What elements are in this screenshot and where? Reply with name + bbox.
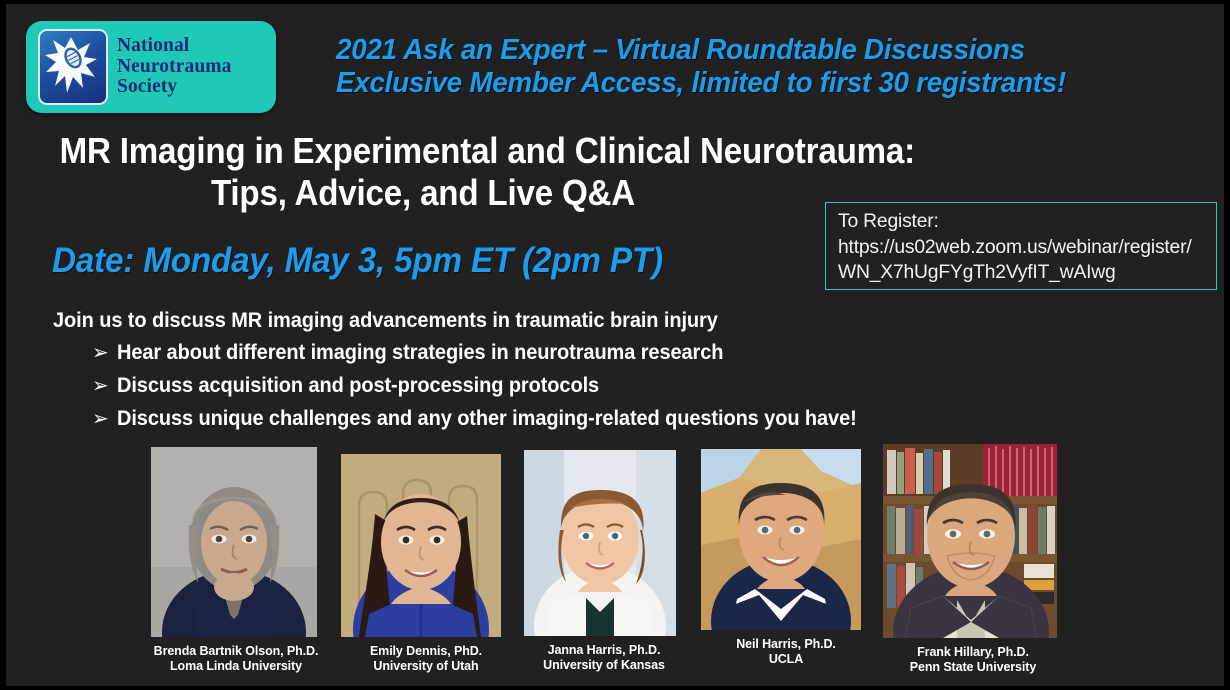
portrait-brenda-bartnik-olson	[151, 447, 317, 637]
flyer-canvas: National Neurotrauma Society 2021 Ask an…	[6, 4, 1224, 686]
portrait-frank-hillary	[883, 444, 1057, 638]
registration-box[interactable]: To Register: https://us02web.zoom.us/web…	[825, 202, 1217, 290]
speaker-card: Emily Dennis, PhD. University of Utah	[341, 454, 511, 674]
logo-line-2: Neurotrauma	[117, 57, 231, 78]
speaker-name: Neil Harris, Ph.D.	[701, 637, 871, 652]
logo-line-1: National	[117, 36, 231, 57]
bullet-item: ➢ Discuss unique challenges and any othe…	[92, 405, 1063, 432]
page-title: MR Imaging in Experimental and Clinical …	[28, 130, 818, 214]
arrow-bullet-icon: ➢	[92, 405, 117, 431]
arrow-bullet-icon: ➢	[92, 339, 117, 365]
speaker-affiliation: University of Utah	[341, 659, 511, 674]
header-line-1: 2021 Ask an Expert – Virtual Roundtable …	[336, 34, 1162, 67]
bullet-text: Hear about different imaging strategies …	[117, 339, 723, 366]
bullet-item: ➢ Hear about different imaging strategie…	[92, 339, 1063, 366]
flyer-slide: National Neurotrauma Society 2021 Ask an…	[0, 0, 1230, 690]
speaker-card: Janna Harris, Ph.D. University of Kansas	[524, 450, 684, 673]
bullet-item: ➢ Discuss acquisition and post-processin…	[92, 372, 1063, 399]
header-line-2: Exclusive Member Access, limited to firs…	[336, 67, 1162, 100]
portrait-neil-harris	[701, 449, 861, 630]
intro-line: Join us to discuss MR imaging advancemen…	[53, 307, 992, 333]
speaker-card: Brenda Bartnik Olson, Ph.D. Loma Linda U…	[151, 447, 321, 674]
speaker-affiliation: Penn State University	[883, 660, 1063, 675]
speaker-affiliation: University of Kansas	[524, 658, 684, 673]
speaker-card: Neil Harris, Ph.D. UCLA	[701, 449, 871, 667]
society-logo-badge: National Neurotrauma Society	[26, 21, 276, 113]
speaker-name: Emily Dennis, PhD.	[341, 644, 511, 659]
society-logo-text: National Neurotrauma Society	[117, 36, 231, 98]
event-series-header: 2021 Ask an Expert – Virtual Roundtable …	[336, 34, 1196, 100]
speaker-affiliation: Loma Linda University	[151, 659, 321, 674]
logo-line-3: Society	[117, 77, 231, 98]
arrow-bullet-icon: ➢	[92, 372, 117, 398]
bullet-text: Discuss acquisition and post-processing …	[117, 372, 599, 399]
neuron-cell-icon	[38, 29, 108, 105]
speaker-gallery: Brenda Bartnik Olson, Ph.D. Loma Linda U…	[6, 441, 1224, 676]
speaker-affiliation: UCLA	[701, 652, 871, 667]
bullet-text: Discuss unique challenges and any other …	[117, 405, 857, 432]
event-date: Date: Monday, May 3, 5pm ET (2pm PT)	[52, 241, 663, 281]
speaker-name: Janna Harris, Ph.D.	[524, 643, 684, 658]
portrait-emily-dennis	[341, 454, 501, 637]
title-line-2: Tips, Advice, and Live Q&A	[60, 172, 787, 214]
portrait-janna-harris	[524, 450, 676, 636]
register-link[interactable]: https://us02web.zoom.us/webinar/register…	[838, 235, 1204, 286]
title-line-1: MR Imaging in Experimental and Clinical …	[60, 130, 787, 172]
speaker-card: Frank Hillary, Ph.D. Penn State Universi…	[883, 444, 1063, 675]
speaker-name: Frank Hillary, Ph.D.	[883, 645, 1063, 660]
body-copy: Join us to discuss MR imaging advancemen…	[53, 307, 1063, 432]
register-label: To Register:	[838, 209, 1204, 235]
speaker-name: Brenda Bartnik Olson, Ph.D.	[151, 644, 321, 659]
